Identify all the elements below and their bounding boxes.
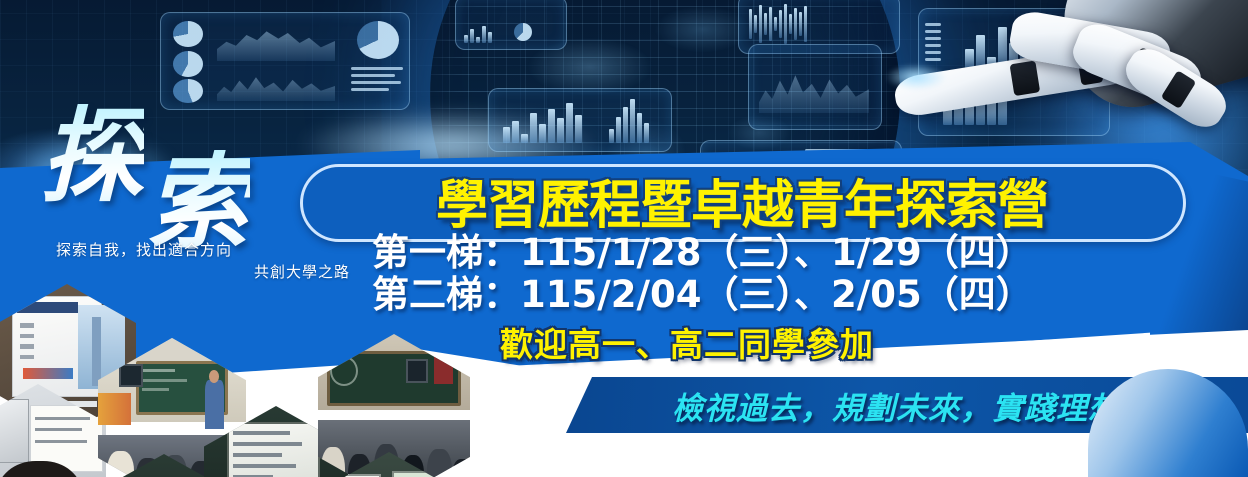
welcome-line: 歡迎高一、高二同學參加	[500, 318, 1060, 366]
hud-bar-series-2	[609, 99, 649, 143]
hud-panel-icons	[455, 0, 567, 50]
hud-mini-bars	[464, 25, 492, 43]
hud-candle-series	[749, 3, 807, 45]
hud-line-plot	[759, 59, 869, 113]
sub-slogan-line-2: 共創大學之路	[56, 262, 356, 284]
hud-pie-2-icon	[173, 51, 203, 77]
hud-donut-icon	[357, 21, 399, 59]
session-dates: 第一梯：115/1/28（三）、1/29（四） 第二梯：115/2/04（三）、…	[372, 232, 1172, 316]
photo-collage	[0, 288, 486, 477]
session-date-1: 第一梯：115/1/28（三）、1/29（四）	[372, 232, 1172, 274]
sub-slogan-line-1: 探索自我，找出適合方向	[56, 241, 232, 259]
fingertip-glow	[886, 64, 946, 90]
event-banner: 探 索 探索自我，找出適合方向 共創大學之路 學習歷程暨卓越青年探索營 第一梯：…	[0, 0, 1248, 477]
hud-mini-pie-icon	[514, 23, 532, 41]
session-date-2: 第二梯：115/2/04（三）、2/05（四）	[372, 274, 1172, 316]
sub-slogan: 探索自我，找出適合方向 共創大學之路	[56, 240, 356, 284]
robot-knuckle-5	[1161, 70, 1197, 109]
hud-area-chart	[217, 21, 335, 61]
logo-char-tan: 探	[40, 104, 144, 208]
robot-knuckle-1	[1010, 60, 1041, 96]
logo-char-suo: 索	[146, 150, 250, 254]
hud-bar-series	[503, 99, 582, 143]
hud-pie-1-icon	[173, 21, 203, 47]
hud-panel-frame-right	[748, 44, 882, 130]
hud-text-lines	[351, 67, 403, 91]
hud-panel-bars	[488, 88, 672, 152]
hud-panel-dashboard	[160, 12, 410, 110]
hud-pie-3-icon	[173, 79, 203, 103]
hud-bar-chart	[217, 67, 335, 101]
event-title: 學習歷程暨卓越青年探索營	[312, 168, 1172, 232]
